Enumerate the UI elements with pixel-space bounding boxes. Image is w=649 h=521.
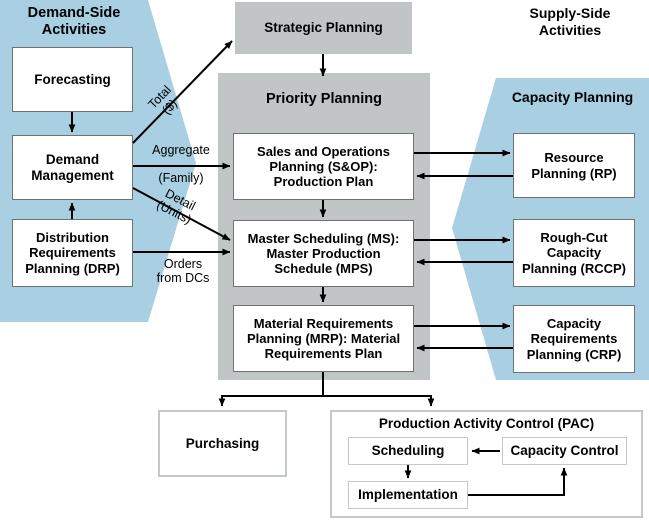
edge-label-orders-line1: Orders (137, 257, 229, 271)
capacity-planning-title: Capacity Planning (512, 89, 633, 105)
strategic-planning-box[interactable]: Strategic Planning (235, 2, 412, 54)
rccp-label-line3: Planning (RCCP) (522, 261, 626, 276)
sop-box[interactable]: Sales and Operations Planning (S&OP): Pr… (233, 133, 414, 200)
pac-title-label: Production Activity Control (PAC) (379, 416, 594, 431)
demand-side-title-line1: Demand-Side (4, 5, 144, 22)
drp-label-line2: Requirements (29, 245, 116, 260)
edge-label-aggregate: Aggregate (136, 143, 226, 157)
forecasting-label: Forecasting (34, 72, 111, 88)
mps-label-line2: Master Production (266, 246, 380, 261)
drp-label-line1: Distribution (36, 230, 109, 245)
strategic-planning-label: Strategic Planning (264, 20, 383, 36)
supply-side-header: Supply-Side Activities (490, 5, 649, 39)
scheduling-box[interactable]: Scheduling (348, 437, 468, 465)
purchasing-box[interactable]: Purchasing (158, 410, 287, 477)
demand-side-header: Demand-Side Activities (4, 5, 144, 40)
pac-title: Production Activity Control (PAC) (330, 416, 643, 432)
demand-management-label-line2: Management (31, 168, 114, 184)
forecasting-box[interactable]: Forecasting (12, 47, 133, 112)
crp-box[interactable]: Capacity Requirements Planning (CRP) (513, 305, 635, 373)
supply-side-title-line2: Activities (490, 22, 649, 39)
edge-label-orders-line2: from DCs (137, 271, 229, 285)
mrp-label-line1: Material Requirements (254, 316, 393, 331)
resource-planning-box[interactable]: Resource Planning (RP) (513, 133, 635, 198)
mps-label-line3: Schedule (MPS) (274, 261, 372, 276)
rp-label-line1: Resource (544, 150, 603, 165)
implementation-label: Implementation (358, 487, 458, 503)
drp-label-line3: Planning (DRP) (25, 261, 120, 276)
capacity-planning-header: Capacity Planning (496, 89, 649, 106)
priority-planning-header: Priority Planning (218, 91, 430, 108)
mps-box[interactable]: Master Scheduling (MS): Master Productio… (233, 220, 414, 287)
mrp-label-line3: Requirements Plan (265, 346, 383, 361)
crp-label-line3: Planning (CRP) (527, 347, 622, 362)
capacity-control-box[interactable]: Capacity Control (502, 437, 627, 465)
edge-label-orders: Orders from DCs (137, 257, 229, 286)
diagram-canvas: Strategic Planning Priority Planning Cap… (0, 0, 649, 521)
crp-label-line2: Requirements (531, 331, 618, 346)
drp-box[interactable]: Distribution Requirements Planning (DRP) (12, 219, 133, 287)
rccp-box[interactable]: Rough-Cut Capacity Planning (RCCP) (513, 219, 635, 287)
sop-label-line1: Sales and Operations (257, 144, 390, 159)
edge-label-aggregate-line2: (Family) (136, 171, 226, 185)
purchasing-label: Purchasing (186, 436, 260, 452)
rccp-label-line1: Rough-Cut (540, 230, 607, 245)
mrp-box[interactable]: Material Requirements Planning (MRP): Ma… (233, 305, 414, 372)
implementation-box[interactable]: Implementation (348, 481, 468, 509)
demand-side-title-line2: Activities (4, 22, 144, 39)
crp-label-line1: Capacity (547, 316, 601, 331)
demand-management-label-line1: Demand (46, 152, 99, 168)
sop-label-line2: Planning (S&OP): (269, 159, 377, 174)
mrp-label-line2: Planning (MRP): Material (247, 331, 400, 346)
rccp-label-line2: Capacity (547, 245, 601, 260)
demand-management-box[interactable]: Demand Management (12, 135, 133, 200)
mps-label-line1: Master Scheduling (MS): (248, 231, 400, 246)
priority-planning-title: Priority Planning (266, 91, 382, 107)
supply-side-title-line1: Supply-Side (490, 5, 649, 22)
edge-label-aggregate-line1: Aggregate (136, 143, 226, 157)
capacity-control-label: Capacity Control (510, 443, 618, 459)
scheduling-label: Scheduling (372, 443, 445, 459)
rp-label-line2: Planning (RP) (531, 166, 616, 181)
sop-label-line3: Production Plan (274, 174, 374, 189)
edge-label-aggregate-units: (Family) (136, 171, 226, 185)
